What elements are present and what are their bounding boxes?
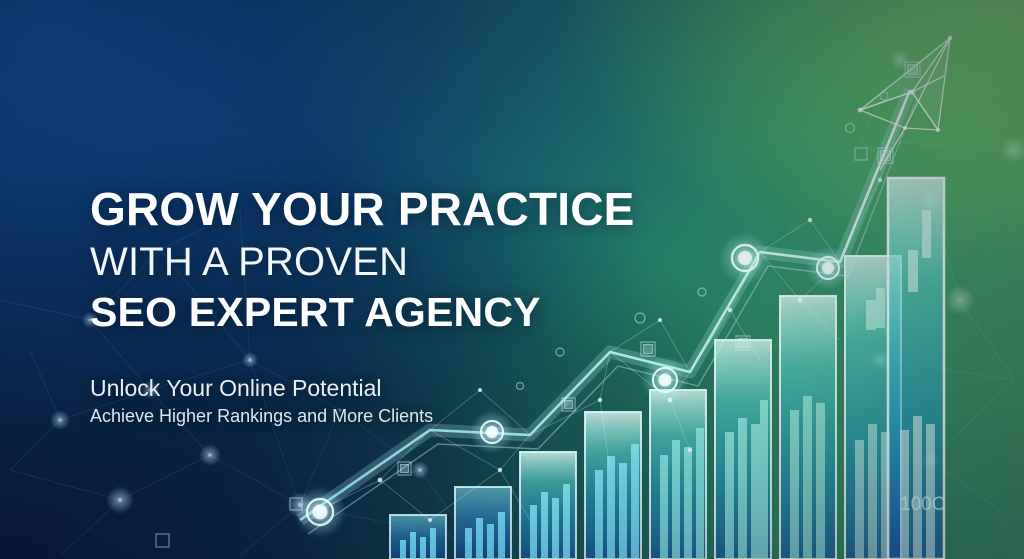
bar-4 [585, 412, 641, 559]
subheading-line-2: Achieve Higher Rankings and More Clients [90, 406, 650, 428]
bar-2 [455, 487, 511, 559]
headline-block: GROW YOUR PRACTICE WITH A PROVEN SEO EXP… [90, 186, 710, 333]
bar-9: 100C [888, 178, 945, 559]
bar-6 [715, 340, 771, 559]
subheading-block: Unlock Your Online Potential Achieve Hig… [90, 374, 650, 428]
headline-line-2: WITH A PROVEN [90, 242, 710, 282]
seo-agency-hero-banner: 100C [0, 0, 1024, 559]
bar-7 [780, 296, 836, 559]
bar-3 [520, 452, 576, 559]
subheading-line-1: Unlock Your Online Potential [90, 374, 650, 402]
bar-1 [390, 515, 446, 559]
headline-line-1: GROW YOUR PRACTICE [90, 186, 710, 232]
headline-line-3: SEO EXPERT AGENCY [90, 292, 710, 333]
bar-5 [650, 390, 706, 559]
bar-value-label: 100C [900, 494, 945, 515]
